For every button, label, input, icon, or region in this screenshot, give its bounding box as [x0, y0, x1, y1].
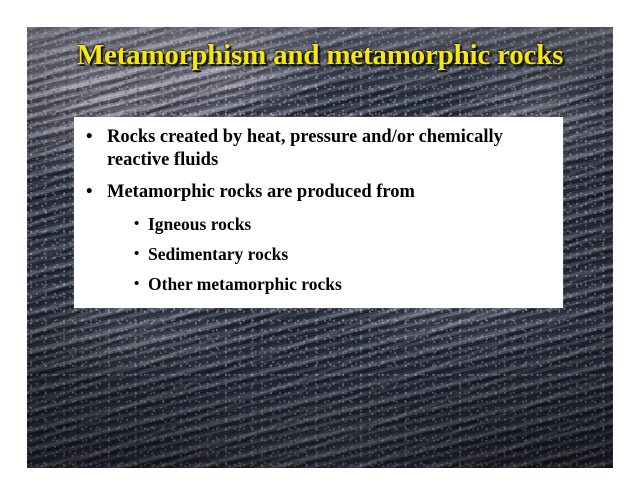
bullet-item-level2: • Sedimentary rocks — [134, 243, 553, 265]
bullet-text: Igneous rocks — [148, 214, 251, 234]
bullet-item-level2: • Other metamorphic rocks — [134, 273, 553, 295]
slide-canvas: Metamorphism and metamorphic rocks • Roc… — [27, 27, 613, 468]
slide-title: Metamorphism and metamorphic rocks — [67, 38, 573, 72]
slide-page: Metamorphism and metamorphic rocks • Roc… — [0, 0, 640, 495]
bullet-item-level1: • Rocks created by heat, pressure and/or… — [80, 126, 553, 172]
bullet-dot-icon: • — [134, 213, 139, 235]
slide-content-box: • Rocks created by heat, pressure and/or… — [74, 117, 563, 308]
bullet-dot-icon: • — [86, 181, 92, 204]
bullet-text: Sedimentary rocks — [148, 244, 288, 264]
bullet-item-level1: • Metamorphic rocks are produced from — [80, 181, 553, 204]
bullet-list: • Rocks created by heat, pressure and/or… — [74, 117, 563, 295]
bullet-dot-icon: • — [134, 243, 139, 265]
bullet-text: Rocks created by heat, pressure and/or c… — [107, 127, 503, 170]
bullet-dot-icon: • — [134, 273, 139, 295]
bullet-item-level2: • Igneous rocks — [134, 213, 553, 235]
bullet-dot-icon: • — [86, 126, 92, 149]
bullet-text: Other metamorphic rocks — [148, 274, 342, 294]
bullet-text: Metamorphic rocks are produced from — [107, 182, 415, 202]
